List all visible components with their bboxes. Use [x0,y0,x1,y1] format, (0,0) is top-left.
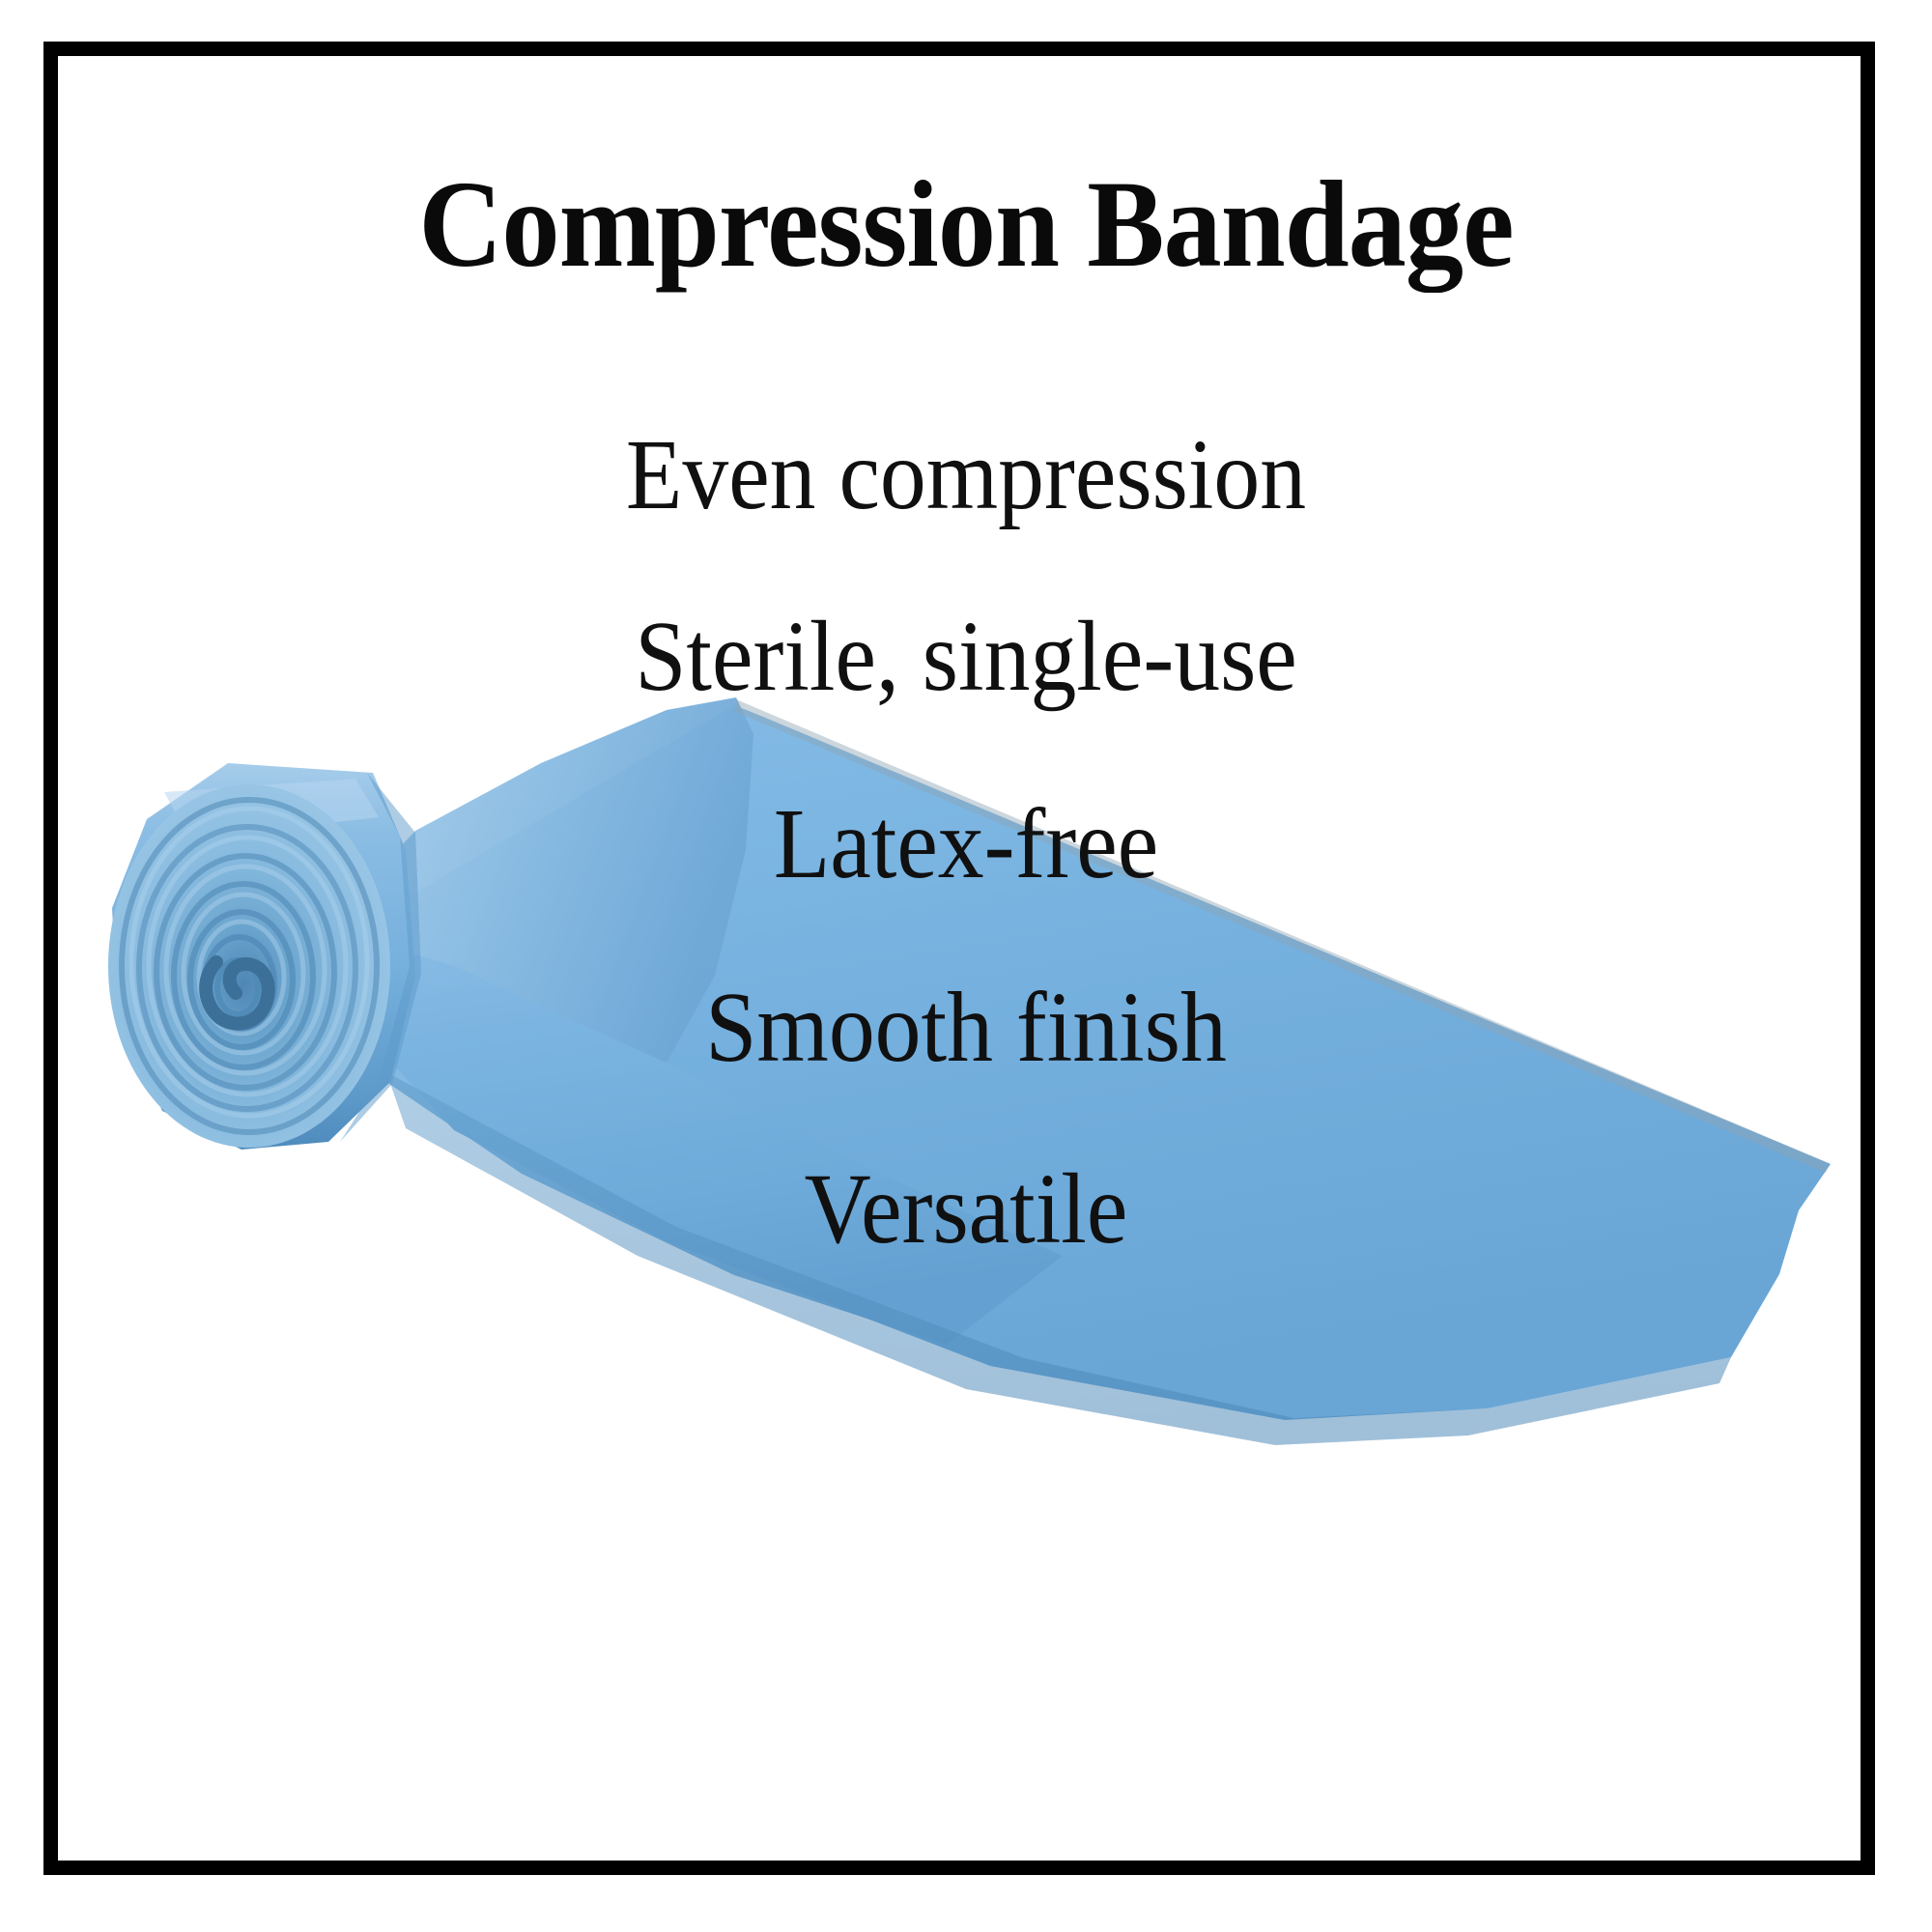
feature-item-0: Even compression [77,425,1855,526]
text-layer: Compression Bandage Even compression Ste… [0,0,1932,1932]
page-title: Compression Bandage [58,162,1874,286]
poster-canvas: Compression Bandage Even compression Ste… [0,0,1932,1932]
feature-item-2: Latex-free [77,794,1855,895]
feature-item-4: Versatile [77,1159,1855,1260]
feature-item-1: Sterile, single-use [77,607,1855,707]
feature-item-3: Smooth finish [77,978,1855,1078]
